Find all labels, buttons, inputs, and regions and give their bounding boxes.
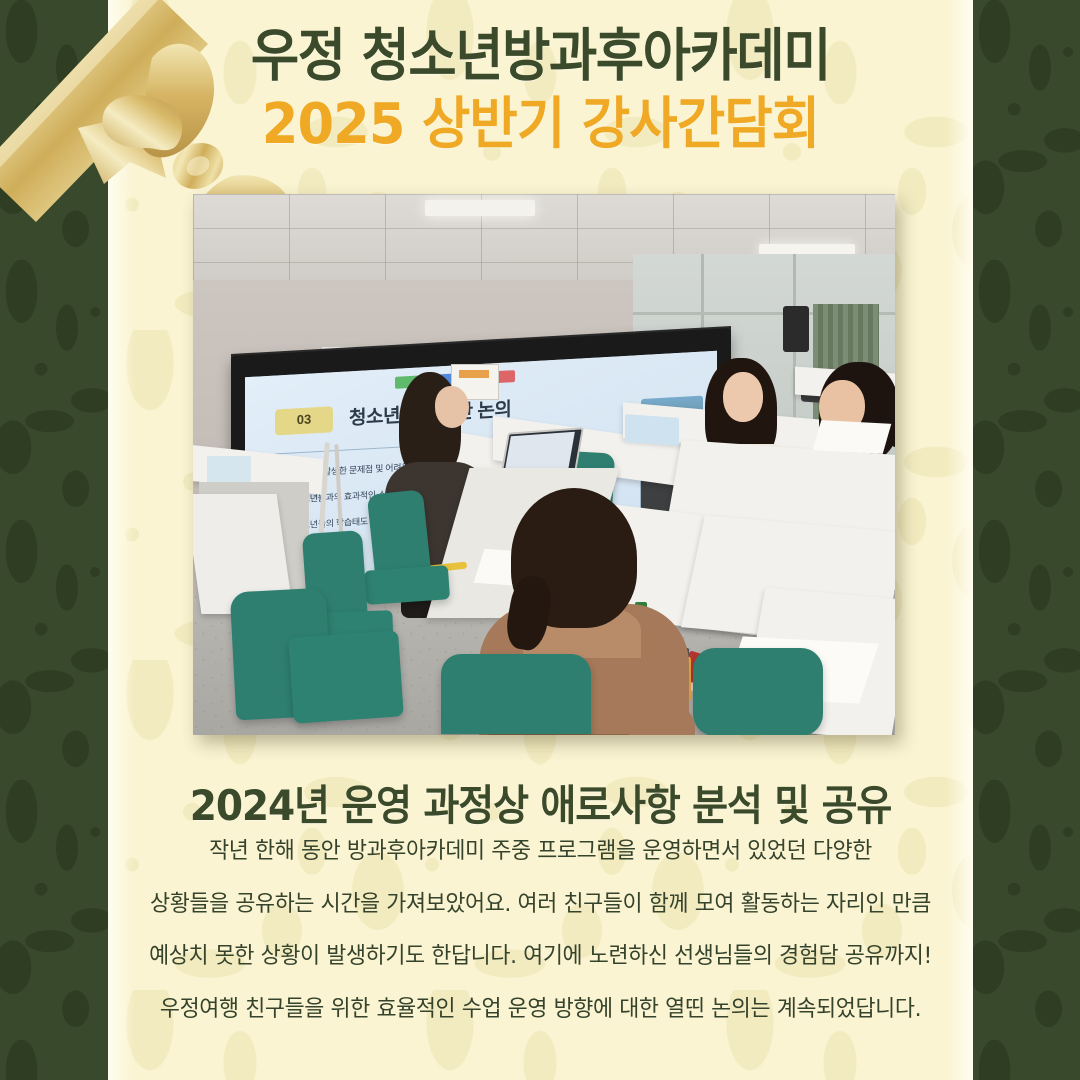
photo-wall-poster-accent bbox=[459, 370, 489, 378]
poster-canvas: 우정 청소년방과후아카데미 2025 상반기 강사간담회 bbox=[0, 0, 1080, 1080]
caption-body-line-3: 예상치 못한 상황이 발생하기도 한답니다. 여기에 노련하신 선생님들의 경험… bbox=[121, 945, 960, 968]
caption-body: 작년 한해 동안 방과후아카데미 주중 프로그램을 운영하면서 있었던 다양한 … bbox=[108, 840, 973, 1050]
photo-person-1-face bbox=[435, 386, 469, 428]
caption-heading: 2024년 운영 과정상 애로사항 분석 및 공유 bbox=[138, 772, 942, 833]
photo-chair-6 bbox=[693, 648, 823, 735]
caption-body-line-1: 작년 한해 동안 방과후아카데미 주중 프로그램을 운영하면서 있었던 다양한 bbox=[121, 840, 960, 863]
left-border-panel bbox=[0, 0, 108, 1080]
photo-person-4-arm bbox=[629, 704, 695, 735]
caption-body-line-2: 상황들을 공유하는 시간을 가져보았어요. 여러 친구들이 함께 모여 활동하는… bbox=[121, 893, 960, 916]
photo-wall-speaker bbox=[783, 306, 809, 352]
damask-pattern-dark-left bbox=[0, 0, 108, 1080]
photo-person-2-face bbox=[723, 372, 763, 422]
caption-body-line-4: 우정여행 친구들을 위한 효율적인 수업 운영 방향에 대한 열띤 논의는 계속… bbox=[121, 998, 960, 1021]
event-photo: 03 청소년 지도방안 논의 ▶ 2024년 발생한 문제점 및 어려움 분석,… bbox=[193, 194, 895, 735]
photo-chair-3-seat bbox=[288, 630, 404, 723]
photo-chair-1-seat bbox=[364, 565, 450, 605]
poster-title: 우정 청소년방과후아카데미 bbox=[143, 26, 939, 86]
damask-pattern-dark-right bbox=[973, 0, 1080, 1080]
poster-subtitle: 2025 상반기 강사간담회 bbox=[134, 96, 947, 155]
photo-chair-1 bbox=[367, 489, 431, 578]
photo-chair-5 bbox=[441, 654, 591, 734]
photo-cabinet-card bbox=[207, 456, 251, 482]
right-border-panel bbox=[973, 0, 1080, 1080]
title-block: 우정 청소년방과후아카데미 2025 상반기 강사간담회 bbox=[108, 26, 973, 155]
photo-paper-3 bbox=[813, 420, 892, 454]
photo-paper-stack bbox=[625, 414, 679, 446]
photo-ceiling-light-1 bbox=[425, 200, 535, 216]
